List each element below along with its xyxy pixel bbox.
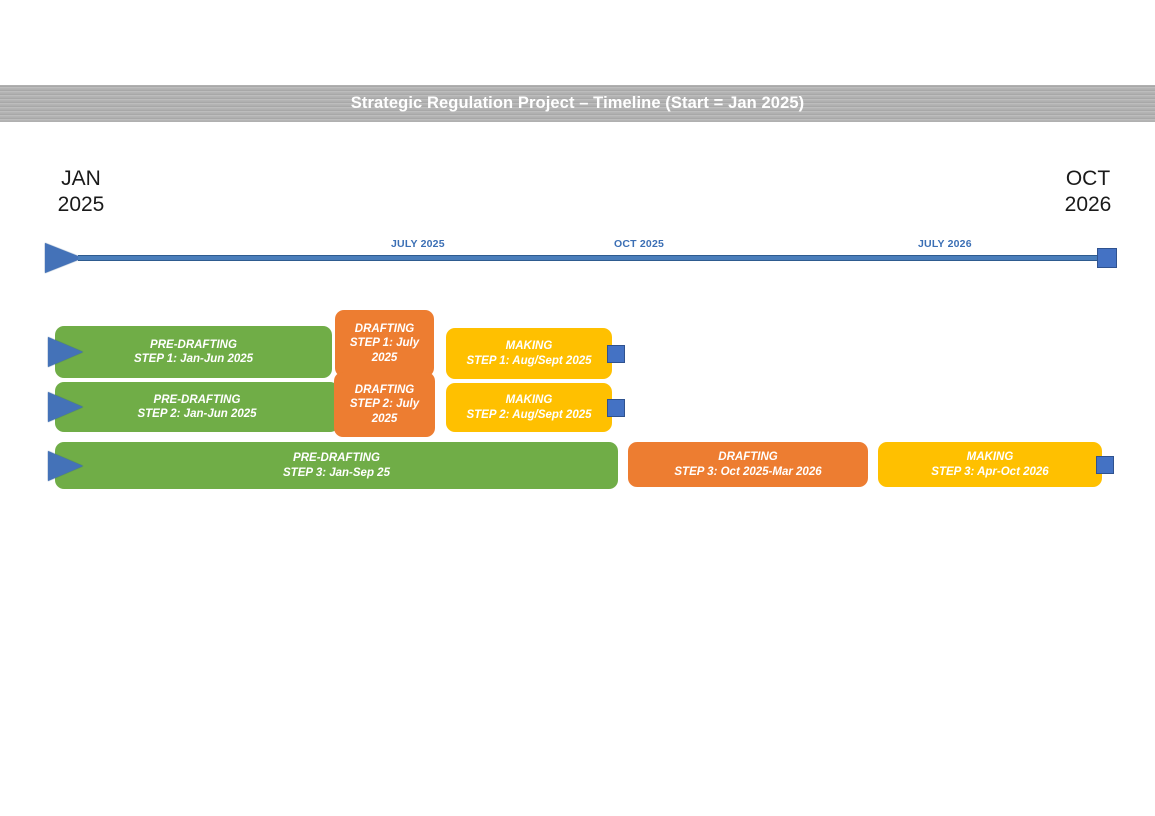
gantt-row-end-marker-icon bbox=[1096, 456, 1114, 474]
gantt-bar-detail: STEP 1: Aug/Sept 2025 bbox=[466, 354, 591, 368]
gantt-bar-detail: STEP 3: Apr-Oct 2026 bbox=[931, 465, 1048, 479]
gantt-bar-detail: STEP 2: Aug/Sept 2025 bbox=[466, 408, 591, 422]
gantt-row-start-arrow-icon bbox=[48, 392, 83, 422]
gantt-bar-phase: DRAFTING bbox=[355, 383, 414, 397]
timeline-end-label: OCT 2026 bbox=[1038, 166, 1138, 218]
gantt-bar-drafting-step-3[interactable]: DRAFTINGSTEP 3: Oct 2025-Mar 2026 bbox=[628, 442, 868, 487]
timeline-end-marker-icon bbox=[1097, 248, 1117, 268]
gantt-bar-detail: STEP 3: Jan-Sep 25 bbox=[283, 466, 390, 480]
gantt-bar-pre-drafting-step-3[interactable]: PRE-DRAFTINGSTEP 3: Jan-Sep 25 bbox=[55, 442, 618, 489]
gantt-row-end-marker-icon bbox=[607, 399, 625, 417]
timeline-start-month: JAN bbox=[61, 167, 101, 190]
gantt-bar-detail: STEP 3: Oct 2025-Mar 2026 bbox=[674, 465, 821, 479]
timeline-end-year: 2026 bbox=[1038, 192, 1138, 218]
gantt-bar-phase: MAKING bbox=[967, 450, 1014, 464]
gantt-bar-detail: STEP 2: July 2025 bbox=[338, 397, 431, 426]
gantt-bar-pre-drafting-step-2[interactable]: PRE-DRAFTINGSTEP 2: Jan-Jun 2025 bbox=[55, 382, 339, 432]
gantt-row-start-arrow-icon bbox=[48, 337, 83, 367]
timeline-tick-label: JULY 2025 bbox=[391, 238, 445, 250]
page-title: Strategic Regulation Project – Timeline … bbox=[351, 94, 804, 113]
gantt-bar-phase: PRE-DRAFTING bbox=[293, 451, 380, 465]
gantt-bar-phase: MAKING bbox=[506, 339, 553, 353]
timeline-end-month: OCT bbox=[1066, 167, 1110, 190]
timeline-axis bbox=[78, 255, 1102, 261]
gantt-bar-drafting-step-1[interactable]: DRAFTINGSTEP 1: July 2025 bbox=[335, 310, 434, 377]
timeline-tick-label: JULY 2026 bbox=[918, 238, 972, 250]
gantt-bar-phase: PRE-DRAFTING bbox=[150, 338, 237, 352]
timeline-start-year: 2025 bbox=[36, 192, 126, 218]
gantt-row-start-arrow-icon bbox=[48, 451, 83, 481]
timeline-tick-label: OCT 2025 bbox=[614, 238, 664, 250]
gantt-bar-making-step-3[interactable]: MAKINGSTEP 3: Apr-Oct 2026 bbox=[878, 442, 1102, 487]
gantt-bar-phase: MAKING bbox=[506, 393, 553, 407]
gantt-bar-detail: STEP 1: Jan-Jun 2025 bbox=[134, 352, 253, 366]
gantt-bar-pre-drafting-step-1[interactable]: PRE-DRAFTINGSTEP 1: Jan-Jun 2025 bbox=[55, 326, 332, 378]
timeline-start-label: JAN 2025 bbox=[36, 166, 126, 218]
gantt-bar-drafting-step-2[interactable]: DRAFTINGSTEP 2: July 2025 bbox=[334, 372, 435, 437]
gantt-bar-phase: DRAFTING bbox=[718, 450, 777, 464]
gantt-row-end-marker-icon bbox=[607, 345, 625, 363]
gantt-bar-detail: STEP 1: July 2025 bbox=[339, 336, 430, 365]
gantt-bar-detail: STEP 2: Jan-Jun 2025 bbox=[137, 407, 256, 421]
gantt-bar-making-step-2[interactable]: MAKINGSTEP 2: Aug/Sept 2025 bbox=[446, 383, 612, 432]
title-banner: Strategic Regulation Project – Timeline … bbox=[0, 85, 1155, 122]
gantt-bar-making-step-1[interactable]: MAKINGSTEP 1: Aug/Sept 2025 bbox=[446, 328, 612, 379]
gantt-bar-phase: PRE-DRAFTING bbox=[154, 393, 241, 407]
gantt-bar-phase: DRAFTING bbox=[355, 322, 414, 336]
